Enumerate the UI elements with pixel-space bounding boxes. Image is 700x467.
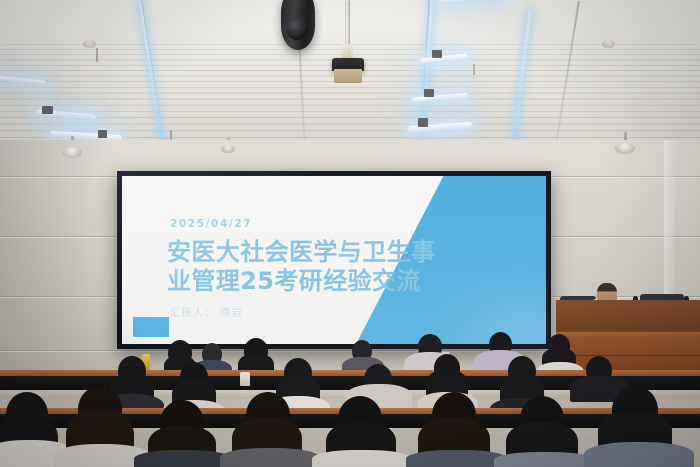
slide-title-line-2: 业管理25考研经验交流 [167, 267, 467, 296]
slide-presenter-label: 汇报人： 晴岩 [170, 304, 243, 319]
lecture-hall-photo: 2025/04/27 安医大社会医学与卫生事 业管理25考研经验交流 汇报人： … [0, 0, 700, 467]
sprinkler-icon [473, 64, 475, 75]
ceiling [0, 0, 700, 152]
light-mount [42, 106, 53, 114]
light-mount [98, 130, 107, 138]
slide-date: 2025/04/27 [170, 218, 252, 230]
slide-title: 安医大社会医学与卫生事 业管理25考研经验交流 [167, 238, 467, 296]
fluorescent-tube [440, 0, 502, 5]
projection-screen[interactable]: 2025/04/27 安医大社会医学与卫生事 业管理25考研经验交流 汇报人： … [117, 171, 551, 349]
projector-base [334, 69, 362, 83]
slide-accent-square [133, 317, 169, 337]
light-mount [424, 89, 434, 97]
smoke-detector-icon [602, 40, 615, 48]
light-mount [432, 50, 442, 58]
smoke-detector-icon [83, 40, 96, 48]
dome-camera-icon [281, 0, 315, 50]
light-mount [418, 118, 428, 127]
cup-object [240, 372, 250, 386]
sprinkler-icon [96, 48, 98, 62]
slide-title-line-1: 安医大社会医学与卫生事 [167, 238, 467, 267]
slide-surface: 2025/04/27 安医大社会医学与卫生事 业管理25考研经验交流 汇报人： … [122, 176, 546, 344]
sprinkler-icon [170, 130, 172, 140]
